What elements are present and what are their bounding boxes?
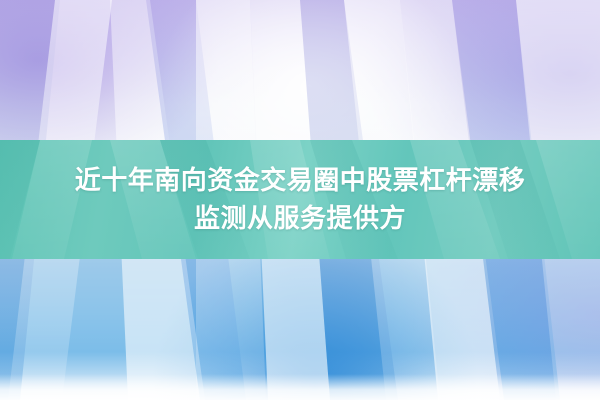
banner-title: 近十年南向资金交易圈中股票杠杆漂移 监测从服务提供方 bbox=[0, 140, 600, 259]
banner-title-line-2: 监测从服务提供方 bbox=[194, 201, 406, 236]
banner-title-line-1: 近十年南向资金交易圈中股票杠杆漂移 bbox=[75, 163, 526, 198]
banner-image: 近十年南向资金交易圈中股票杠杆漂移 监测从服务提供方 bbox=[0, 0, 600, 400]
bottom-fade-overlay bbox=[0, 374, 600, 400]
title-band: 近十年南向资金交易圈中股票杠杆漂移 监测从服务提供方 bbox=[0, 140, 600, 259]
